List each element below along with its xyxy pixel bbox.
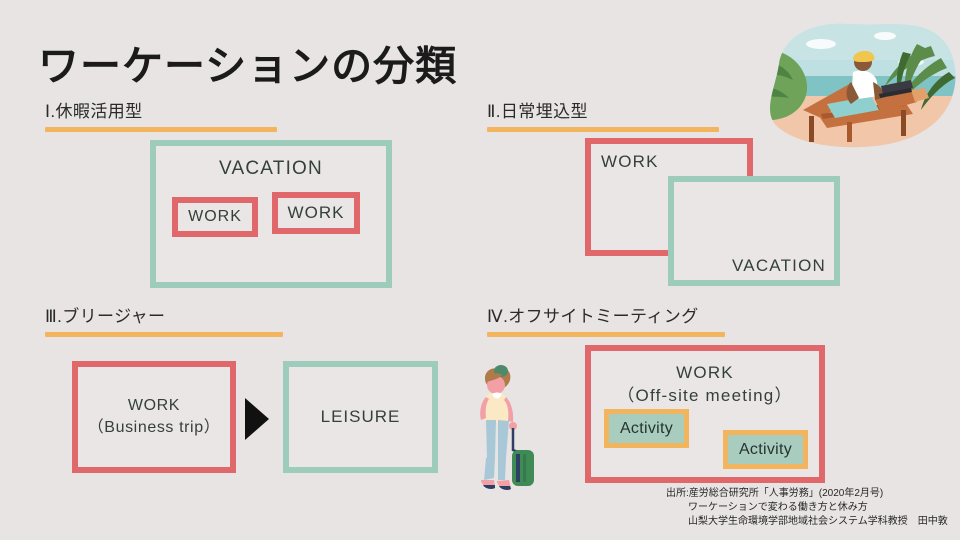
source-line-1: 出所:産労総合研究所「人事労務」(2020年2月号): [666, 488, 883, 499]
section-heading-1-underline: [45, 127, 277, 132]
panel1-work-box-b: WORK: [272, 192, 360, 234]
beach-lounger-laptop-illustration: [735, 18, 960, 150]
source-line-2: ワーケーションで変わる働き方と休み方: [666, 501, 948, 515]
panel3-work-box: WORK （Business trip）: [72, 361, 236, 473]
page-title: ワーケーションの分類: [38, 32, 457, 92]
panel3-work-line1: WORK: [128, 395, 180, 417]
section-heading-4-label: Ⅳ.オフサイトミーティング: [487, 302, 725, 327]
slide-canvas: ワーケーションの分類 Ⅰ.休暇活用型 Ⅱ.日常埋込型 Ⅲ.ブリージャー Ⅳ.オフ…: [0, 0, 960, 540]
section-heading-3-label: Ⅲ.ブリージャー: [45, 302, 283, 327]
section-heading-3: Ⅲ.ブリージャー: [45, 302, 283, 337]
section-heading-2: Ⅱ.日常埋込型: [487, 97, 719, 132]
panel3-work-text: WORK （Business trip）: [78, 367, 230, 467]
panel2-vacation-label: VACATION: [732, 256, 826, 276]
source-note: 出所:産労総合研究所「人事労務」(2020年2月号) ワーケーションで変わる働き…: [666, 487, 948, 530]
panel2-work-label: WORK: [601, 152, 659, 172]
panel1-work-a-label: WORK: [178, 203, 252, 231]
section-heading-3-underline: [45, 332, 283, 337]
section-heading-1-label: Ⅰ.休暇活用型: [45, 97, 277, 122]
panel3-leisure-box: LEISURE: [283, 361, 438, 473]
panel1-work-b-label: WORK: [278, 198, 354, 228]
panel1-work-box-a: WORK: [172, 197, 258, 237]
panel3-work-line2: （Business trip）: [88, 417, 221, 439]
section-heading-1: Ⅰ.休暇活用型: [45, 97, 277, 132]
source-line-3: 山梨大学生命環境学部地域社会システム学科教授 田中敦: [666, 515, 948, 529]
section-heading-4: Ⅳ.オフサイトミーティング: [487, 302, 725, 337]
play-triangle-icon: [245, 398, 269, 440]
panel2-vacation-box: VACATION: [668, 176, 840, 286]
section-heading-2-underline: [487, 127, 719, 132]
panel1-vacation-label: VACATION: [156, 158, 386, 180]
traveler-with-suitcase-illustration: [468, 358, 534, 494]
section-heading-4-underline: [487, 332, 725, 337]
panel3-leisure-label: LEISURE: [289, 367, 432, 467]
panel4-work-line1: WORK: [676, 363, 734, 382]
section-heading-2-label: Ⅱ.日常埋込型: [487, 97, 719, 122]
panel4-activity-box-a: Activity: [604, 409, 689, 448]
panel4-work-line2: （Off-site meeting）: [617, 386, 792, 405]
panel4-activity-box-b: Activity: [723, 430, 808, 469]
panel4-work-text: WORK （Off-site meeting）: [591, 362, 819, 408]
